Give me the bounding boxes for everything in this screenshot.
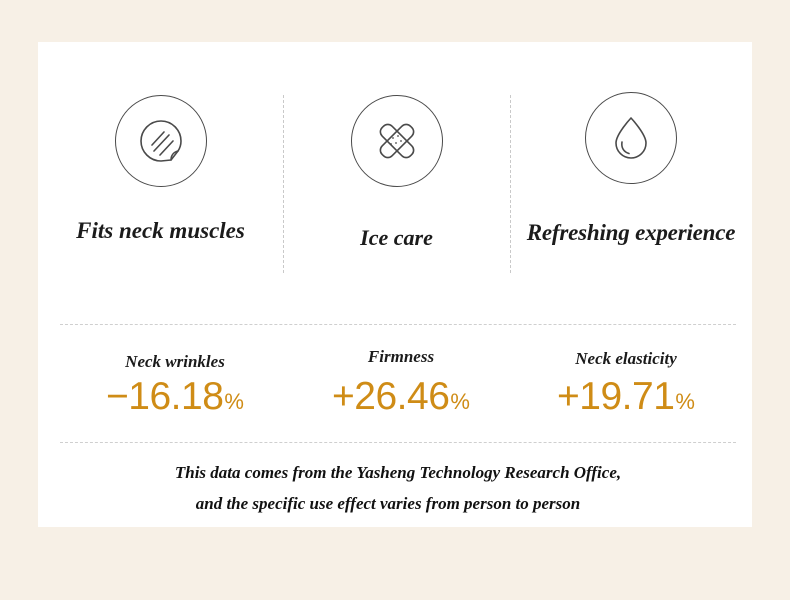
stat-item-neck-wrinkles: Neck wrinkles −16.18%	[60, 338, 290, 438]
content-panel: Fits neck muscles	[38, 42, 752, 527]
product-benefits-infographic: Fits neck muscles	[0, 0, 790, 600]
feature-item-ice-care: Ice care	[283, 42, 510, 287]
feature-item-fits-neck-muscles: Fits neck muscles	[38, 42, 283, 287]
stat-percent-sign: %	[224, 389, 244, 414]
feature-divider-2	[510, 95, 511, 273]
stat-number: +26.46	[332, 375, 449, 418]
feature-icon-wrap	[351, 95, 443, 187]
stat-item-neck-elasticity: Neck elasticity +19.71%	[512, 338, 740, 438]
feature-label: Fits neck muscles	[38, 218, 283, 244]
stat-label: Neck elasticity	[512, 349, 740, 369]
stat-number: −16.18	[106, 375, 223, 418]
stat-label: Neck wrinkles	[60, 352, 290, 372]
feature-item-refreshing-experience: Refreshing experience	[510, 42, 752, 287]
stats-divider-top	[60, 324, 736, 325]
feature-divider-1	[283, 95, 284, 273]
stat-value: +19.71%	[512, 377, 740, 416]
feature-label: Refreshing experience	[510, 220, 752, 246]
feature-icon-wrap	[115, 95, 207, 187]
stats-divider-bottom	[60, 442, 736, 443]
stat-number: +19.71	[557, 375, 674, 418]
disclaimer-line-2: and the specific use effect varies from …	[38, 488, 752, 519]
fabric-swatch-icon	[115, 95, 207, 187]
stat-value: −16.18%	[60, 377, 290, 416]
stat-percent-sign: %	[450, 389, 470, 414]
features-row: Fits neck muscles	[38, 42, 752, 287]
stat-value: +26.46%	[290, 377, 512, 416]
stat-item-firmness: Firmness +26.46%	[290, 338, 512, 438]
water-droplet-icon	[585, 92, 677, 184]
feature-icon-wrap	[585, 92, 677, 184]
stat-label: Firmness	[290, 347, 512, 367]
feature-label: Ice care	[283, 225, 510, 251]
disclaimer: This data comes from the Yasheng Technol…	[38, 457, 752, 519]
disclaimer-line-1: This data comes from the Yasheng Technol…	[38, 457, 752, 488]
crossed-bandages-icon	[351, 95, 443, 187]
stats-row: Neck wrinkles −16.18% Firmness +26.46% N…	[38, 338, 752, 438]
stat-percent-sign: %	[675, 389, 695, 414]
